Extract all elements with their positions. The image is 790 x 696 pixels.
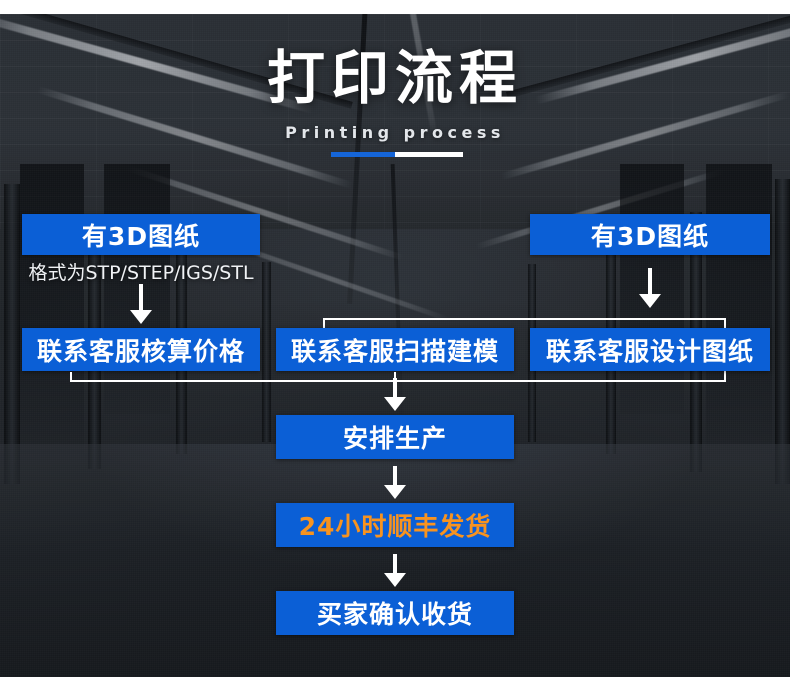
arrow-shaft	[393, 466, 397, 485]
top-white-margin	[0, 0, 790, 14]
page-title: 打印流程	[0, 47, 790, 109]
flow-box-contact-support-design-drawing[interactable]: 联系客服设计图纸	[530, 328, 770, 371]
flow-box-contact-support-quote[interactable]: 联系客服核算价格	[22, 328, 260, 371]
arrow-down-right-icon	[639, 268, 661, 308]
arrow-shaft	[648, 268, 652, 294]
connector-top-horizontal	[323, 318, 726, 320]
connector-top-left-riser	[323, 318, 325, 328]
warehouse-bay-left	[20, 164, 84, 454]
flow-caption-file-formats: 格式为STP/STEP/IGS/STL	[22, 262, 260, 284]
flow-box-arrange-production[interactable]: 安排生产	[276, 415, 514, 459]
arrow-down-to-production-icon	[384, 378, 406, 411]
arrow-head	[384, 485, 406, 499]
warehouse-bay-right	[706, 164, 772, 454]
arrow-down-to-shipping-icon	[384, 466, 406, 499]
flow-box-contact-support-scan-model[interactable]: 联系客服扫描建模	[276, 328, 514, 371]
flow-box-buyer-confirm-receipt[interactable]: 买家确认收货	[276, 591, 514, 635]
flow-box-has-3d-drawing-right[interactable]: 有3D图纸	[530, 214, 770, 255]
warehouse-column-5	[775, 179, 790, 484]
arrow-head	[639, 294, 661, 308]
connector-bottom-left-riser	[70, 372, 72, 382]
flowchart-page: 打印流程 Printing process 有3D图纸 有3D图纸 格式为STP…	[0, 0, 790, 696]
arrow-down-left-icon	[130, 284, 152, 324]
title-rule-white	[395, 152, 463, 157]
title-rule-blue	[331, 152, 395, 157]
arrow-shaft	[139, 284, 143, 310]
arrow-shaft	[393, 554, 397, 573]
flow-box-24h-sf-express-shipping[interactable]: 24小时顺丰发货	[276, 503, 514, 547]
arrow-down-to-confirm-icon	[384, 554, 406, 587]
page-subtitle: Printing process	[0, 124, 790, 142]
arrow-shaft	[393, 378, 397, 397]
bottom-white-margin	[0, 677, 790, 696]
warehouse-column-1	[4, 184, 20, 484]
arrow-head	[384, 573, 406, 587]
arrow-head	[384, 397, 406, 411]
flow-box-has-3d-drawing-left[interactable]: 有3D图纸	[22, 214, 260, 255]
arrow-head	[130, 310, 152, 324]
warehouse-column-4	[262, 262, 271, 442]
